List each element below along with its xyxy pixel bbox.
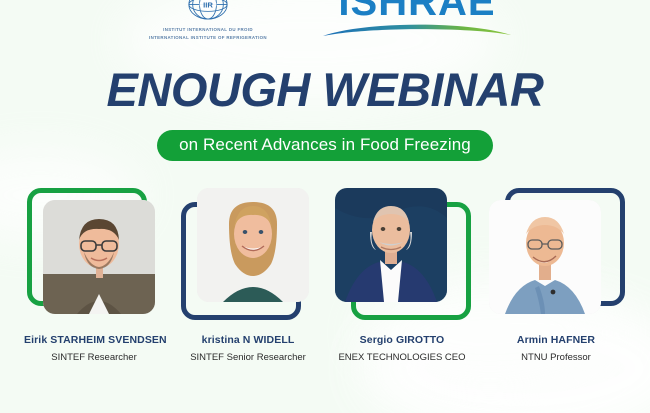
- speaker-card-2: [178, 186, 318, 336]
- speaker-role: NTNU Professor: [486, 352, 626, 363]
- speaker-card-4: [486, 186, 626, 336]
- speaker-card-3: [332, 186, 472, 336]
- speaker-name: Armin HAFNER: [486, 334, 626, 346]
- iir-caption-en: INTERNATIONAL INSTITUTE OF REFRIGERATION: [133, 35, 283, 42]
- iir-logo: IIR INSTITUT INTERNATIONAL DU FROID INTE…: [133, 0, 283, 41]
- speaker-role: ENEX TECHNOLOGIES CEO: [332, 352, 472, 363]
- speaker-photo-4: [489, 200, 601, 314]
- page-title: ENOUGH WEBINAR: [0, 66, 650, 113]
- speaker-name: Sergio GIROTTO: [332, 334, 472, 346]
- subtitle-row: on Recent Advances in Food Freezing: [0, 130, 650, 161]
- swoosh-icon: [321, 22, 513, 38]
- speaker-photo-3: [335, 188, 447, 302]
- subtitle-banner: on Recent Advances in Food Freezing: [157, 130, 493, 161]
- speaker-names: Eirik STARHEIM SVENDSEN SINTEF Researche…: [0, 334, 650, 363]
- speaker-name-col-1: Eirik STARHEIM SVENDSEN SINTEF Researche…: [24, 334, 164, 363]
- speaker-name: kristina N WIDELL: [178, 334, 318, 346]
- speaker-card-1: [24, 186, 164, 336]
- speaker-name-col-4: Armin HAFNER NTNU Professor: [486, 334, 626, 363]
- speaker-role: SINTEF Researcher: [24, 352, 164, 363]
- header-logos: IIR INSTITUT INTERNATIONAL DU FROID INTE…: [0, 0, 650, 46]
- speaker-photo-2: [197, 188, 309, 302]
- speaker-name: Eirik STARHEIM SVENDSEN: [24, 334, 164, 346]
- globe-icon: IIR: [185, 0, 231, 26]
- ishrae-wordmark: ISHRAE: [317, 0, 517, 22]
- speaker-role: SINTEF Senior Researcher: [178, 352, 318, 363]
- iir-mark-label: IIR: [203, 1, 213, 10]
- speaker-name-col-3: Sergio GIROTTO ENEX TECHNOLOGIES CEO: [332, 334, 472, 363]
- speaker-name-col-2: kristina N WIDELL SINTEF Senior Research…: [178, 334, 318, 363]
- iir-caption-fr: INSTITUT INTERNATIONAL DU FROID: [133, 27, 283, 34]
- speaker-photos: [0, 186, 650, 336]
- speaker-photo-1: [43, 200, 155, 314]
- ishrae-logo: ISHRAE: [317, 0, 517, 46]
